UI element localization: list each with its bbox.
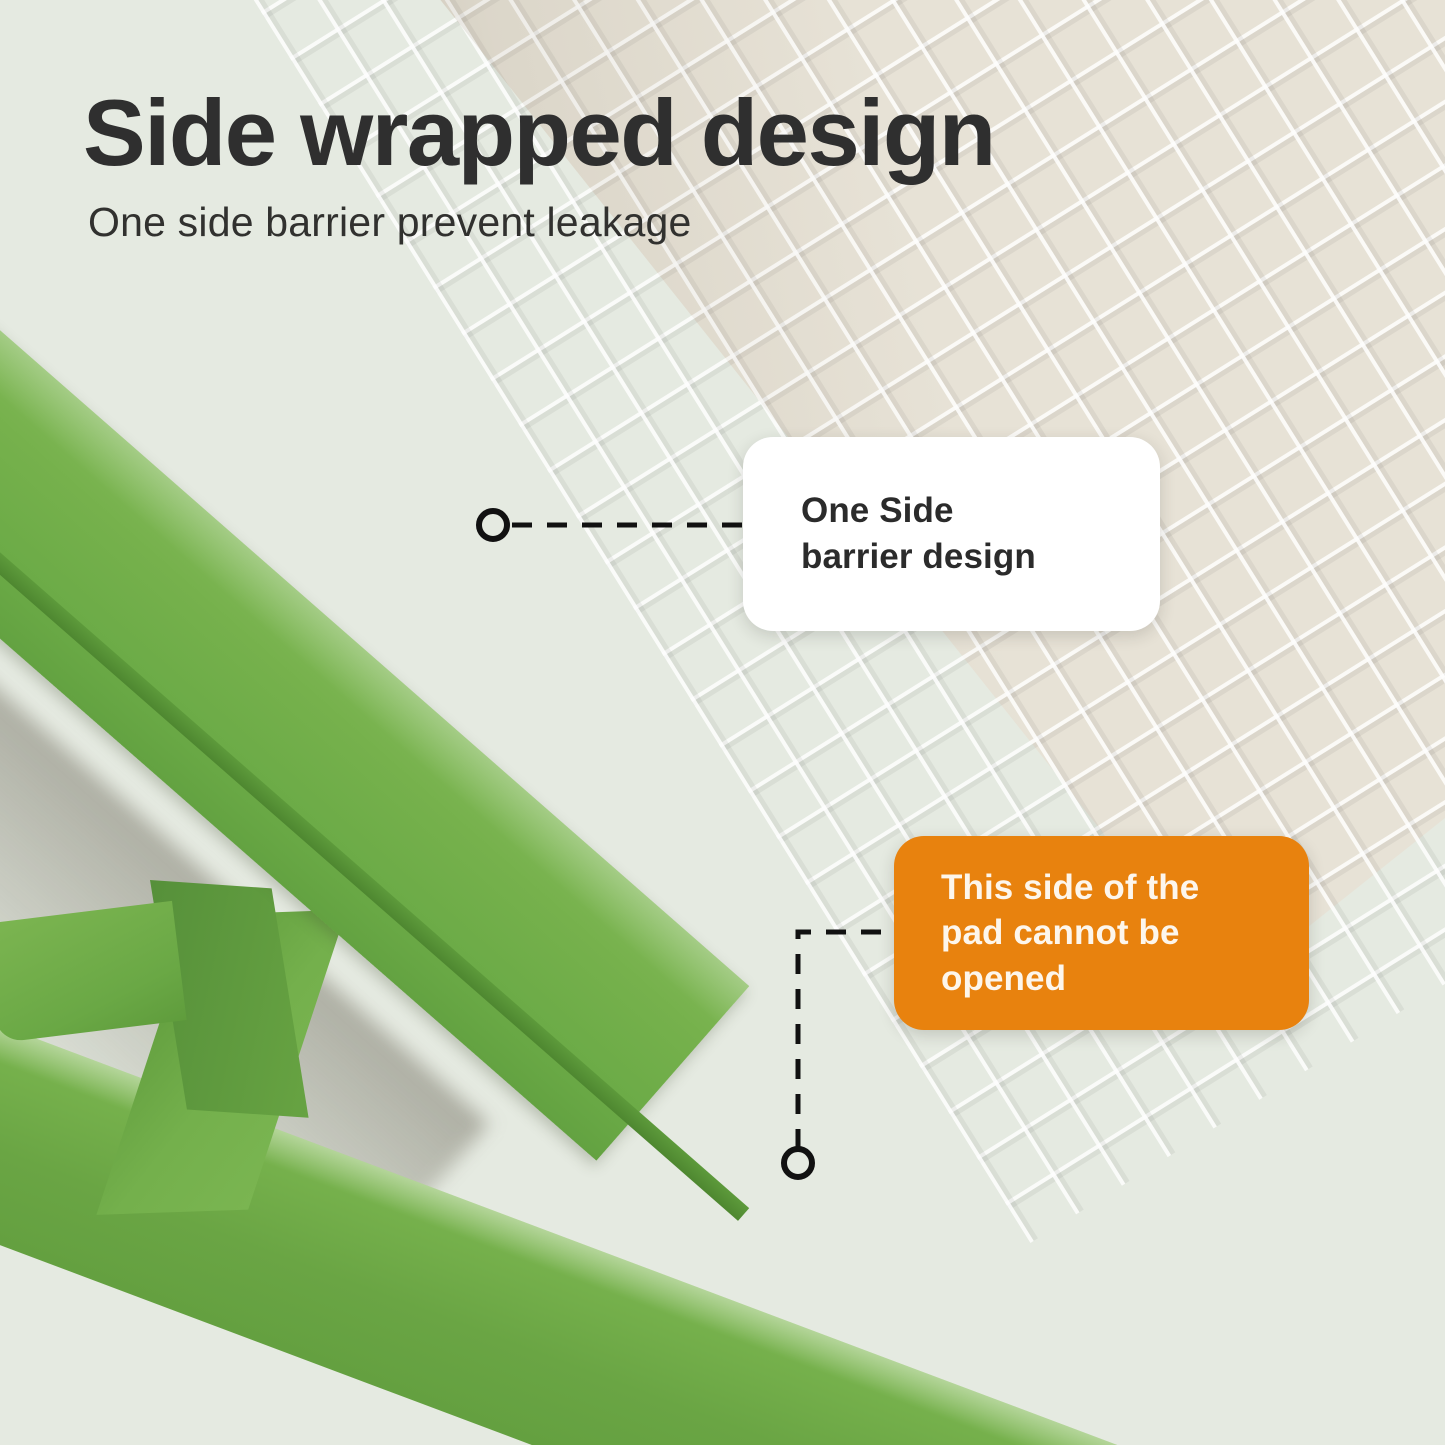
marker-cannot-be-opened <box>784 1149 812 1177</box>
promo-graphic: Side wrapped design One side barrier pre… <box>0 0 1445 1445</box>
marker-one-side-barrier <box>479 511 507 539</box>
callout-one-side-barrier-text: One Side barrier design <box>801 488 1036 580</box>
callout-one-side-barrier: One Side barrier design <box>743 437 1160 631</box>
callout-line: opened <box>941 956 1199 1002</box>
callout-cannot-be-opened-text: This side of the pad cannot be opened <box>941 865 1199 1002</box>
callout-line: One Side <box>801 488 1036 534</box>
callout-line: This side of the <box>941 865 1199 911</box>
callout-cannot-be-opened: This side of the pad cannot be opened <box>894 836 1309 1030</box>
page-subtitle: One side barrier prevent leakage <box>88 202 692 243</box>
page-title: Side wrapped design <box>83 86 995 180</box>
leader-line-cannot-be-opened <box>798 932 894 1149</box>
callout-line: barrier design <box>801 534 1036 580</box>
callout-line: pad cannot be <box>941 910 1199 956</box>
